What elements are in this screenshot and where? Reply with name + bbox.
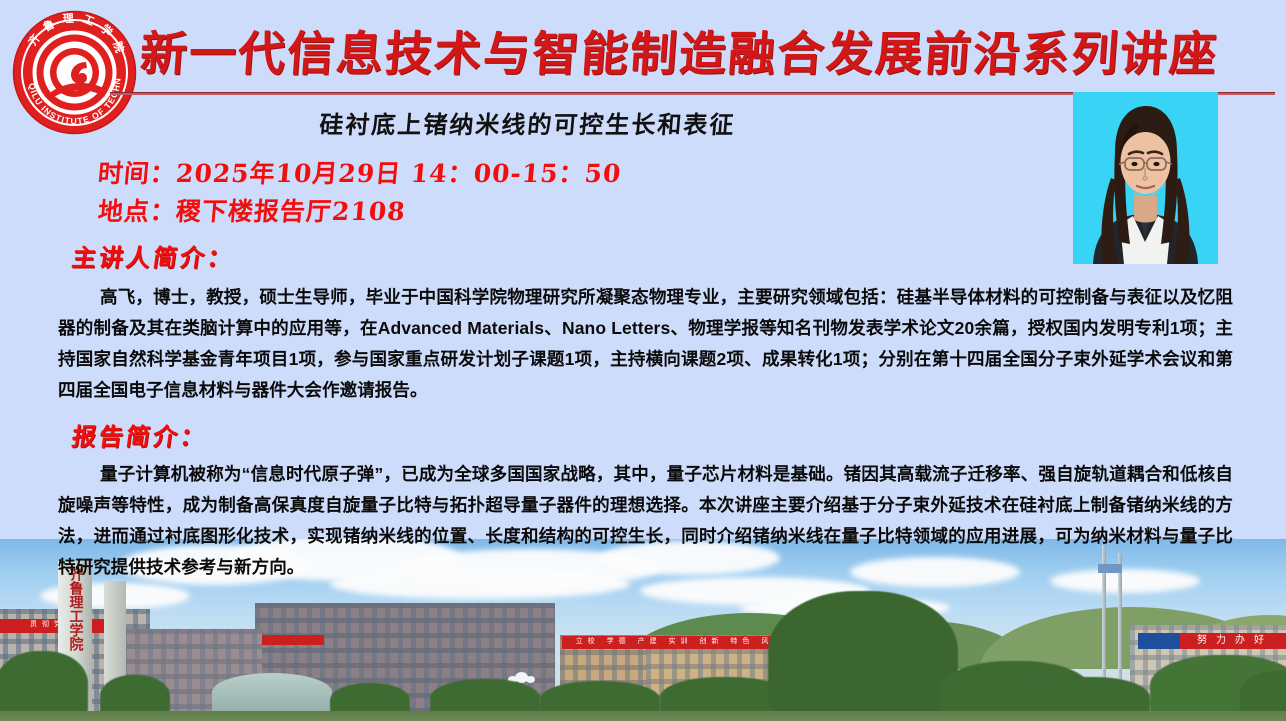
building-sign [262, 635, 324, 645]
banner-right: 努力办好 [1180, 633, 1286, 649]
lecture-poster: 贯彻党的 齐鲁理工学院 立校 学德 产建 实训 创新 特色 风校 人 [0, 0, 1286, 721]
page-title: 新一代信息技术与智能制造融合发展前沿系列讲座 [138, 27, 1142, 83]
banner-right-text: 努力办好 [1180, 633, 1286, 649]
lecture-title: 硅衬底上锗纳米线的可控生长和表征 [0, 108, 1056, 142]
banner-left: 贯彻党的 [0, 619, 114, 633]
speaker-bio-text: 高飞，博士，教授，硕士生导师，毕业于中国科学院物理研究所凝聚态物理专业，主要研究… [58, 282, 1233, 406]
tree-large [768, 591, 958, 721]
lecture-place: 地点：稷下楼报告厅2108 [96, 193, 623, 231]
lecture-meta: 时间：2025年10月29日 14：00-15：50 地点：稷下楼报告厅2108 [98, 155, 621, 231]
abstract-heading: 报告简介： [70, 422, 209, 452]
speaker-bio-heading: 主讲人简介： [70, 243, 236, 273]
speaker-portrait [1073, 92, 1218, 264]
lecture-time: 时间：2025年10月29日 14：00-15：50 [96, 155, 623, 193]
building-right-logo-plate [1138, 633, 1180, 649]
abstract-text: 量子计算机被称为“信息时代原子弹”，已成为全球多国国家战略，其中，量子芯片材料是… [58, 459, 1233, 583]
ground [0, 711, 1286, 721]
banner-left-text: 贯彻党的 [0, 619, 114, 631]
